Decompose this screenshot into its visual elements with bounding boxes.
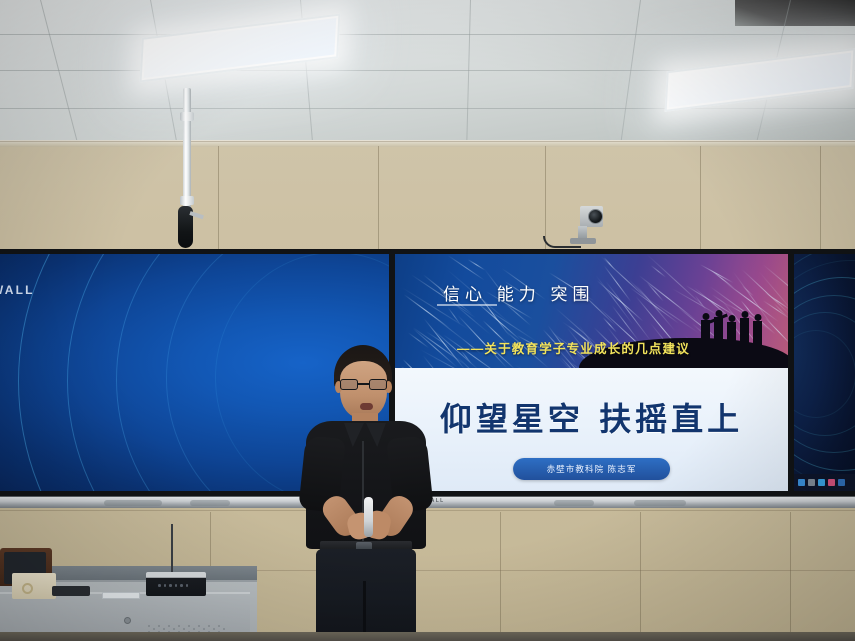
grill-dot [218, 625, 220, 627]
wall-seam [0, 141, 855, 142]
glasses-icon [340, 379, 387, 391]
microphone-stand [171, 524, 173, 574]
wallpaper-arc [794, 254, 855, 491]
grill-dot [173, 628, 175, 630]
grill-dot [193, 628, 195, 630]
grill-dot [208, 625, 210, 627]
grill-dot [203, 628, 205, 630]
grill-dot [183, 628, 185, 630]
lamp-diffuser [669, 53, 851, 108]
slide-subtitle: ——关于教育学子专业成长的几点建议 [457, 338, 690, 357]
wall-panel-seam [218, 146, 219, 256]
display-brand-label: KWALL [0, 283, 35, 297]
wall-panel-seam [790, 512, 791, 632]
ceiling-seam [40, 0, 81, 155]
presenter-mouth [360, 403, 373, 410]
bezel-button[interactable] [634, 500, 686, 506]
grill-dot [213, 628, 215, 630]
led-panel-light [665, 48, 855, 112]
ceiling-corner-shadow [735, 0, 855, 26]
wall-panel-seam [820, 146, 821, 256]
wall-panel-seam [500, 512, 501, 632]
tissue-box [12, 573, 56, 599]
app-icon-pink[interactable] [828, 479, 835, 486]
grill-dot [168, 625, 170, 627]
bezel-button[interactable] [554, 500, 594, 506]
display-center-slide[interactable]: 信心 能力 突围 ——关于教育学子专业成长的几点建议 仰望星空 扶摇直上 赤壁市… [390, 249, 793, 496]
slide-lower-band: 仰望星空 扶摇直上 赤壁市教科院 陈志军 [395, 368, 788, 491]
room-photo: KWALL 信心 能力 突围 ——关于教育学子专业成长的几点建议 仰望星空 扶摇… [0, 0, 855, 641]
slide-calligraphy: 仰望星空 扶摇直上 [395, 394, 788, 440]
windows-taskbar[interactable] [794, 474, 855, 491]
grill-dot [198, 625, 200, 627]
camera-lens-icon [588, 209, 603, 224]
right-wallpaper [794, 254, 855, 491]
wall-panel-seam [640, 512, 641, 632]
ceiling-seam [0, 108, 855, 109]
desk-accessory [52, 586, 90, 596]
ceiling [0, 0, 855, 152]
desk-paper [102, 592, 140, 599]
search-icon[interactable] [808, 479, 815, 486]
pole-joint-icon [180, 112, 194, 121]
presenter [290, 345, 440, 641]
star-trail [699, 264, 733, 283]
control-panel-buttons[interactable] [158, 584, 188, 587]
handheld-microphone [364, 497, 373, 537]
grill-dot [163, 628, 165, 630]
bezel-button[interactable] [190, 500, 230, 506]
lamp-diffuser [144, 18, 336, 78]
star-trail [448, 255, 485, 281]
grill-dot [158, 625, 160, 627]
presenter-pants [316, 549, 416, 641]
slide-title: 信心 能力 突围 [443, 280, 594, 305]
slide-speaker-credit: 赤壁市教科院 陈志军 [513, 458, 671, 480]
grill-dot [223, 628, 225, 630]
wall-panel-seam [700, 146, 701, 256]
led-panel-light [140, 14, 341, 83]
app-icon-blue[interactable] [838, 479, 845, 486]
pole-joint-icon [180, 196, 194, 205]
task-view-icon[interactable] [818, 479, 825, 486]
camera-base [570, 238, 596, 244]
floor [0, 632, 855, 641]
ceiling-seam [0, 34, 855, 35]
lectern-lock-icon [124, 617, 131, 624]
bezel-button[interactable] [104, 500, 162, 506]
grill-dot [188, 625, 190, 627]
people-silhouettes [701, 317, 762, 346]
ceiling-seam [618, 0, 641, 159]
grill-dot [178, 625, 180, 627]
start-button-icon[interactable] [798, 479, 805, 486]
display-right[interactable] [789, 249, 855, 496]
grill-dot [148, 625, 150, 627]
tissue-box-logo-icon [22, 583, 33, 594]
grill-dot [153, 628, 155, 630]
ceiling-seam [466, 0, 471, 160]
star-trail [467, 259, 484, 270]
wall-panel-seam [378, 146, 379, 256]
